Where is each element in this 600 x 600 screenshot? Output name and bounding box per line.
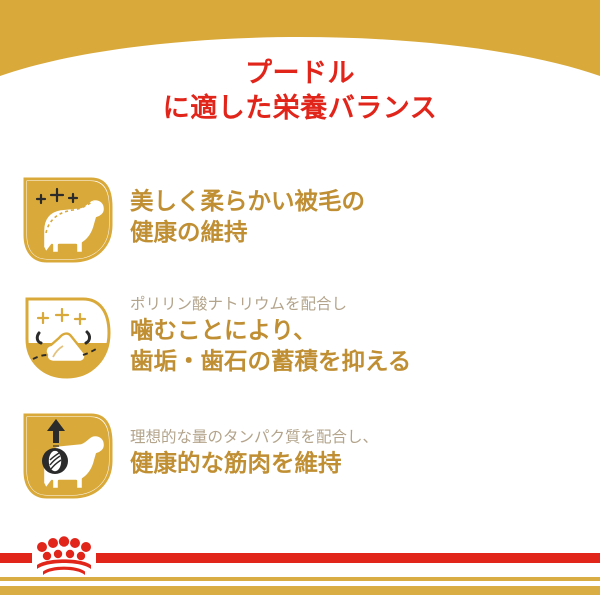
page-title-line-2: に適した栄養バランス	[0, 91, 600, 126]
footer-red-bar-right	[96, 553, 600, 563]
footer-gold-line-thick	[0, 586, 600, 595]
feature-main-line: 美しく柔らかい被毛の	[130, 186, 586, 217]
feature-sub-line: 理想的な量のタンパク質を配合し、	[130, 427, 586, 448]
feature-sub-line: ポリリン酸ナトリウムを配合し	[130, 294, 586, 315]
footer-gold-line-thin	[0, 577, 600, 581]
dog-muscle-arrow-icon	[13, 403, 117, 503]
royal-canin-crown-icon	[33, 536, 95, 578]
feature-main-line: 噛むことにより、	[130, 315, 586, 346]
feature-icon-wrap	[0, 285, 130, 385]
feature-item-coat: 美しく柔らかい被毛の 健康の維持	[0, 158, 600, 276]
page-title: プードル に適した栄養バランス	[0, 56, 600, 126]
feature-icon-wrap	[0, 167, 130, 267]
dog-coat-shine-icon	[13, 167, 117, 267]
feature-main-line: 健康的な筋肉を維持	[130, 448, 586, 479]
feature-text-wrap: 理想的な量のタンパク質を配合し、 健康的な筋肉を維持	[130, 427, 600, 479]
feature-main-line: 歯垢・歯石の蓄積を抑える	[130, 346, 586, 377]
feature-main-line: 健康の維持	[130, 217, 586, 248]
tooth-tartar-icon	[13, 285, 117, 385]
page-title-line-1: プードル	[0, 56, 600, 91]
feature-item-dental: ポリリン酸ナトリウムを配合し 噛むことにより、 歯垢・歯石の蓄積を抑える	[0, 276, 600, 394]
feature-item-muscle: 理想的な量のタンパク質を配合し、 健康的な筋肉を維持	[0, 394, 600, 512]
product-feature-panel: プードル に適した栄養バランス	[0, 0, 600, 600]
feature-list: 美しく柔らかい被毛の 健康の維持	[0, 158, 600, 512]
feature-text-wrap: ポリリン酸ナトリウムを配合し 噛むことにより、 歯垢・歯石の蓄積を抑える	[130, 294, 600, 377]
royal-canin-crown-logo	[33, 536, 95, 578]
feature-text-wrap: 美しく柔らかい被毛の 健康の維持	[130, 186, 600, 248]
feature-icon-wrap	[0, 403, 130, 503]
footer-red-bar-left	[0, 553, 32, 563]
